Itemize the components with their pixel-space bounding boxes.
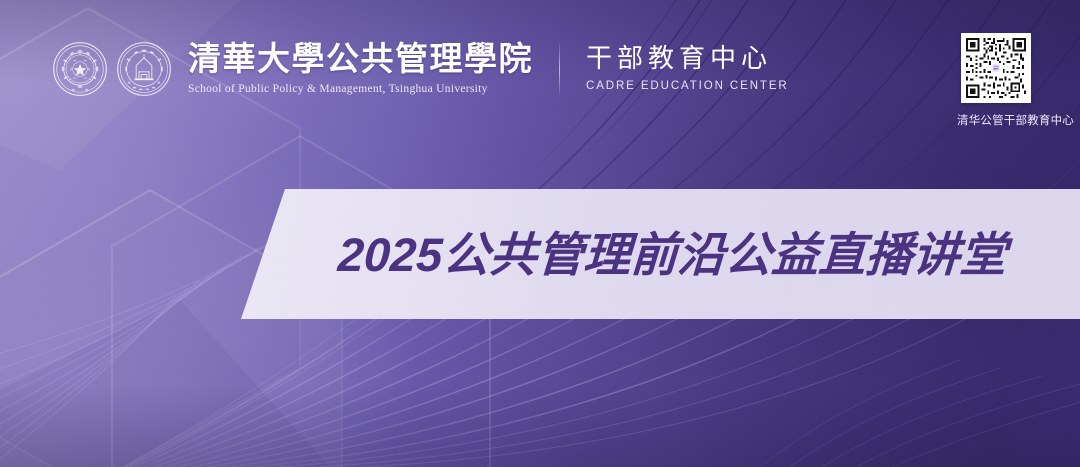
event-title: 2025公共管理前沿公益直播讲堂 xyxy=(337,231,1008,278)
tsinghua-university-seal-icon xyxy=(52,41,108,97)
center-name-en: CADRE EDUCATION CENTER xyxy=(586,80,789,94)
header-divider xyxy=(559,43,560,95)
qr-code-icon[interactable] xyxy=(961,33,1031,103)
school-of-public-policy-seal-icon xyxy=(116,41,172,97)
event-banner: 清華大學公共管理學院 School of Public Policy & Man… xyxy=(0,0,1080,467)
title-band: 2025公共管理前沿公益直播讲堂 xyxy=(0,189,1080,319)
center-name-cn: 干部教育中心 xyxy=(586,44,789,74)
school-name-block: 清華大學公共管理學院 School of Public Policy & Man… xyxy=(188,38,533,100)
school-name-cn: 清華大學公共管理學院 xyxy=(188,42,533,79)
center-name-block: 干部教育中心 CADRE EDUCATION CENTER xyxy=(586,38,789,100)
school-name-en: School of Public Policy & Management, Ts… xyxy=(188,83,533,97)
qr-caption: 清华公管干部教育中心 xyxy=(957,112,1033,128)
qr-block: 清华公管干部教育中心 xyxy=(958,33,1034,128)
logo-lockup: 清華大學公共管理學院 School of Public Policy & Man… xyxy=(52,34,789,104)
